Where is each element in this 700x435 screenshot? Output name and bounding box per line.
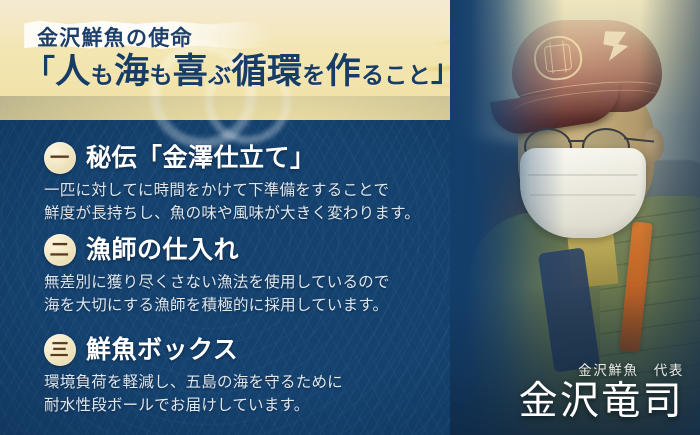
headline-part-1: も (91, 63, 114, 88)
badge-label-1: 一 (50, 149, 70, 166)
number-badge-one-icon: 一 (44, 142, 76, 174)
headline-part-8: 作 (326, 52, 361, 91)
headline-part-3: も (149, 63, 172, 88)
headline-part-7: を (302, 63, 325, 88)
section-2-line-2: 海を大切にする漁師を積極的に採用しています。 (44, 295, 464, 318)
number-badge-two-icon: 二 (44, 234, 76, 266)
headline-close-quote: 」 (431, 55, 461, 88)
headline-part-4: 喜 (173, 52, 208, 91)
signature-name: 金沢竜司 (519, 382, 684, 421)
badge-label-2: 二 (50, 241, 70, 258)
badge-label-3: 三 (50, 341, 70, 358)
section-3-line-2: 耐水性段ボールでお届けしています。 (44, 395, 464, 418)
section-1-line-1: 一匹に対してに時間をかけて下準備をすることで (44, 180, 464, 203)
mission-section-3: 三 鮮魚ボックス 環境負荷を軽減し、五島の海を守るために 耐水性段ボールでお届け… (44, 333, 464, 418)
number-badge-three-icon: 三 (44, 334, 76, 366)
headline-open-quote: 「 (25, 55, 55, 88)
page-title: 「人も海も喜ぶ循環を作ること」 (25, 54, 461, 89)
eyebrow-text: 金沢鮮魚の使命 (37, 22, 193, 52)
headline-part-9: ること (361, 63, 431, 88)
signature-role: 金沢鮮魚 代表 (519, 359, 684, 379)
section-header-3: 三 鮮魚ボックス (44, 333, 464, 367)
section-1-line-2: 鮮度が長持ちし、魚の味や風味が大きく変わります。 (44, 203, 464, 226)
section-body-3: 環境負荷を軽減し、五島の海を守るために 耐水性段ボールでお届けしています。 (44, 372, 464, 418)
section-header-2: 二 漁師の仕入れ (44, 233, 464, 267)
headline-part-6: 循環 (232, 52, 303, 91)
glasses-bridge (568, 140, 584, 142)
headline-part-5: ぶ (208, 63, 231, 88)
signature-block: 金沢鮮魚 代表 金沢竜司 (519, 359, 684, 421)
mission-section-2: 二 漁師の仕入れ 無差別に獲り尽くさない漁法を使用しているので 海を大切にする漁… (44, 233, 464, 318)
promotional-banner: 金沢鮮魚の使命 「人も海も喜ぶ循環を作ること」 一 秘伝「金澤仕立て」 一匹に対… (0, 0, 700, 435)
section-title-2: 漁師の仕入れ (86, 238, 239, 263)
headline-part-0: 人 (55, 52, 90, 91)
section-body-2: 無差別に獲り尽くさない漁法を使用しているので 海を大切にする漁師を積極的に採用し… (44, 272, 464, 318)
section-title-3: 鮮魚ボックス (86, 338, 238, 363)
eyebrow-label: 金沢鮮魚の使命 (37, 26, 193, 50)
section-title-1: 秘伝「金澤仕立て」 (86, 146, 316, 171)
mission-section-1: 一 秘伝「金澤仕立て」 一匹に対してに時間をかけて下準備をすることで 鮮度が長持… (44, 141, 464, 226)
section-body-1: 一匹に対してに時間をかけて下準備をすることで 鮮度が長持ちし、魚の味や風味が大き… (44, 180, 464, 226)
section-2-line-1: 無差別に獲り尽くさない漁法を使用しているので (44, 272, 464, 295)
headline-part-2: 海 (114, 52, 149, 91)
section-header-1: 一 秘伝「金澤仕立て」 (44, 141, 464, 175)
section-3-line-1: 環境負荷を軽減し、五島の海を守るために (44, 372, 464, 395)
